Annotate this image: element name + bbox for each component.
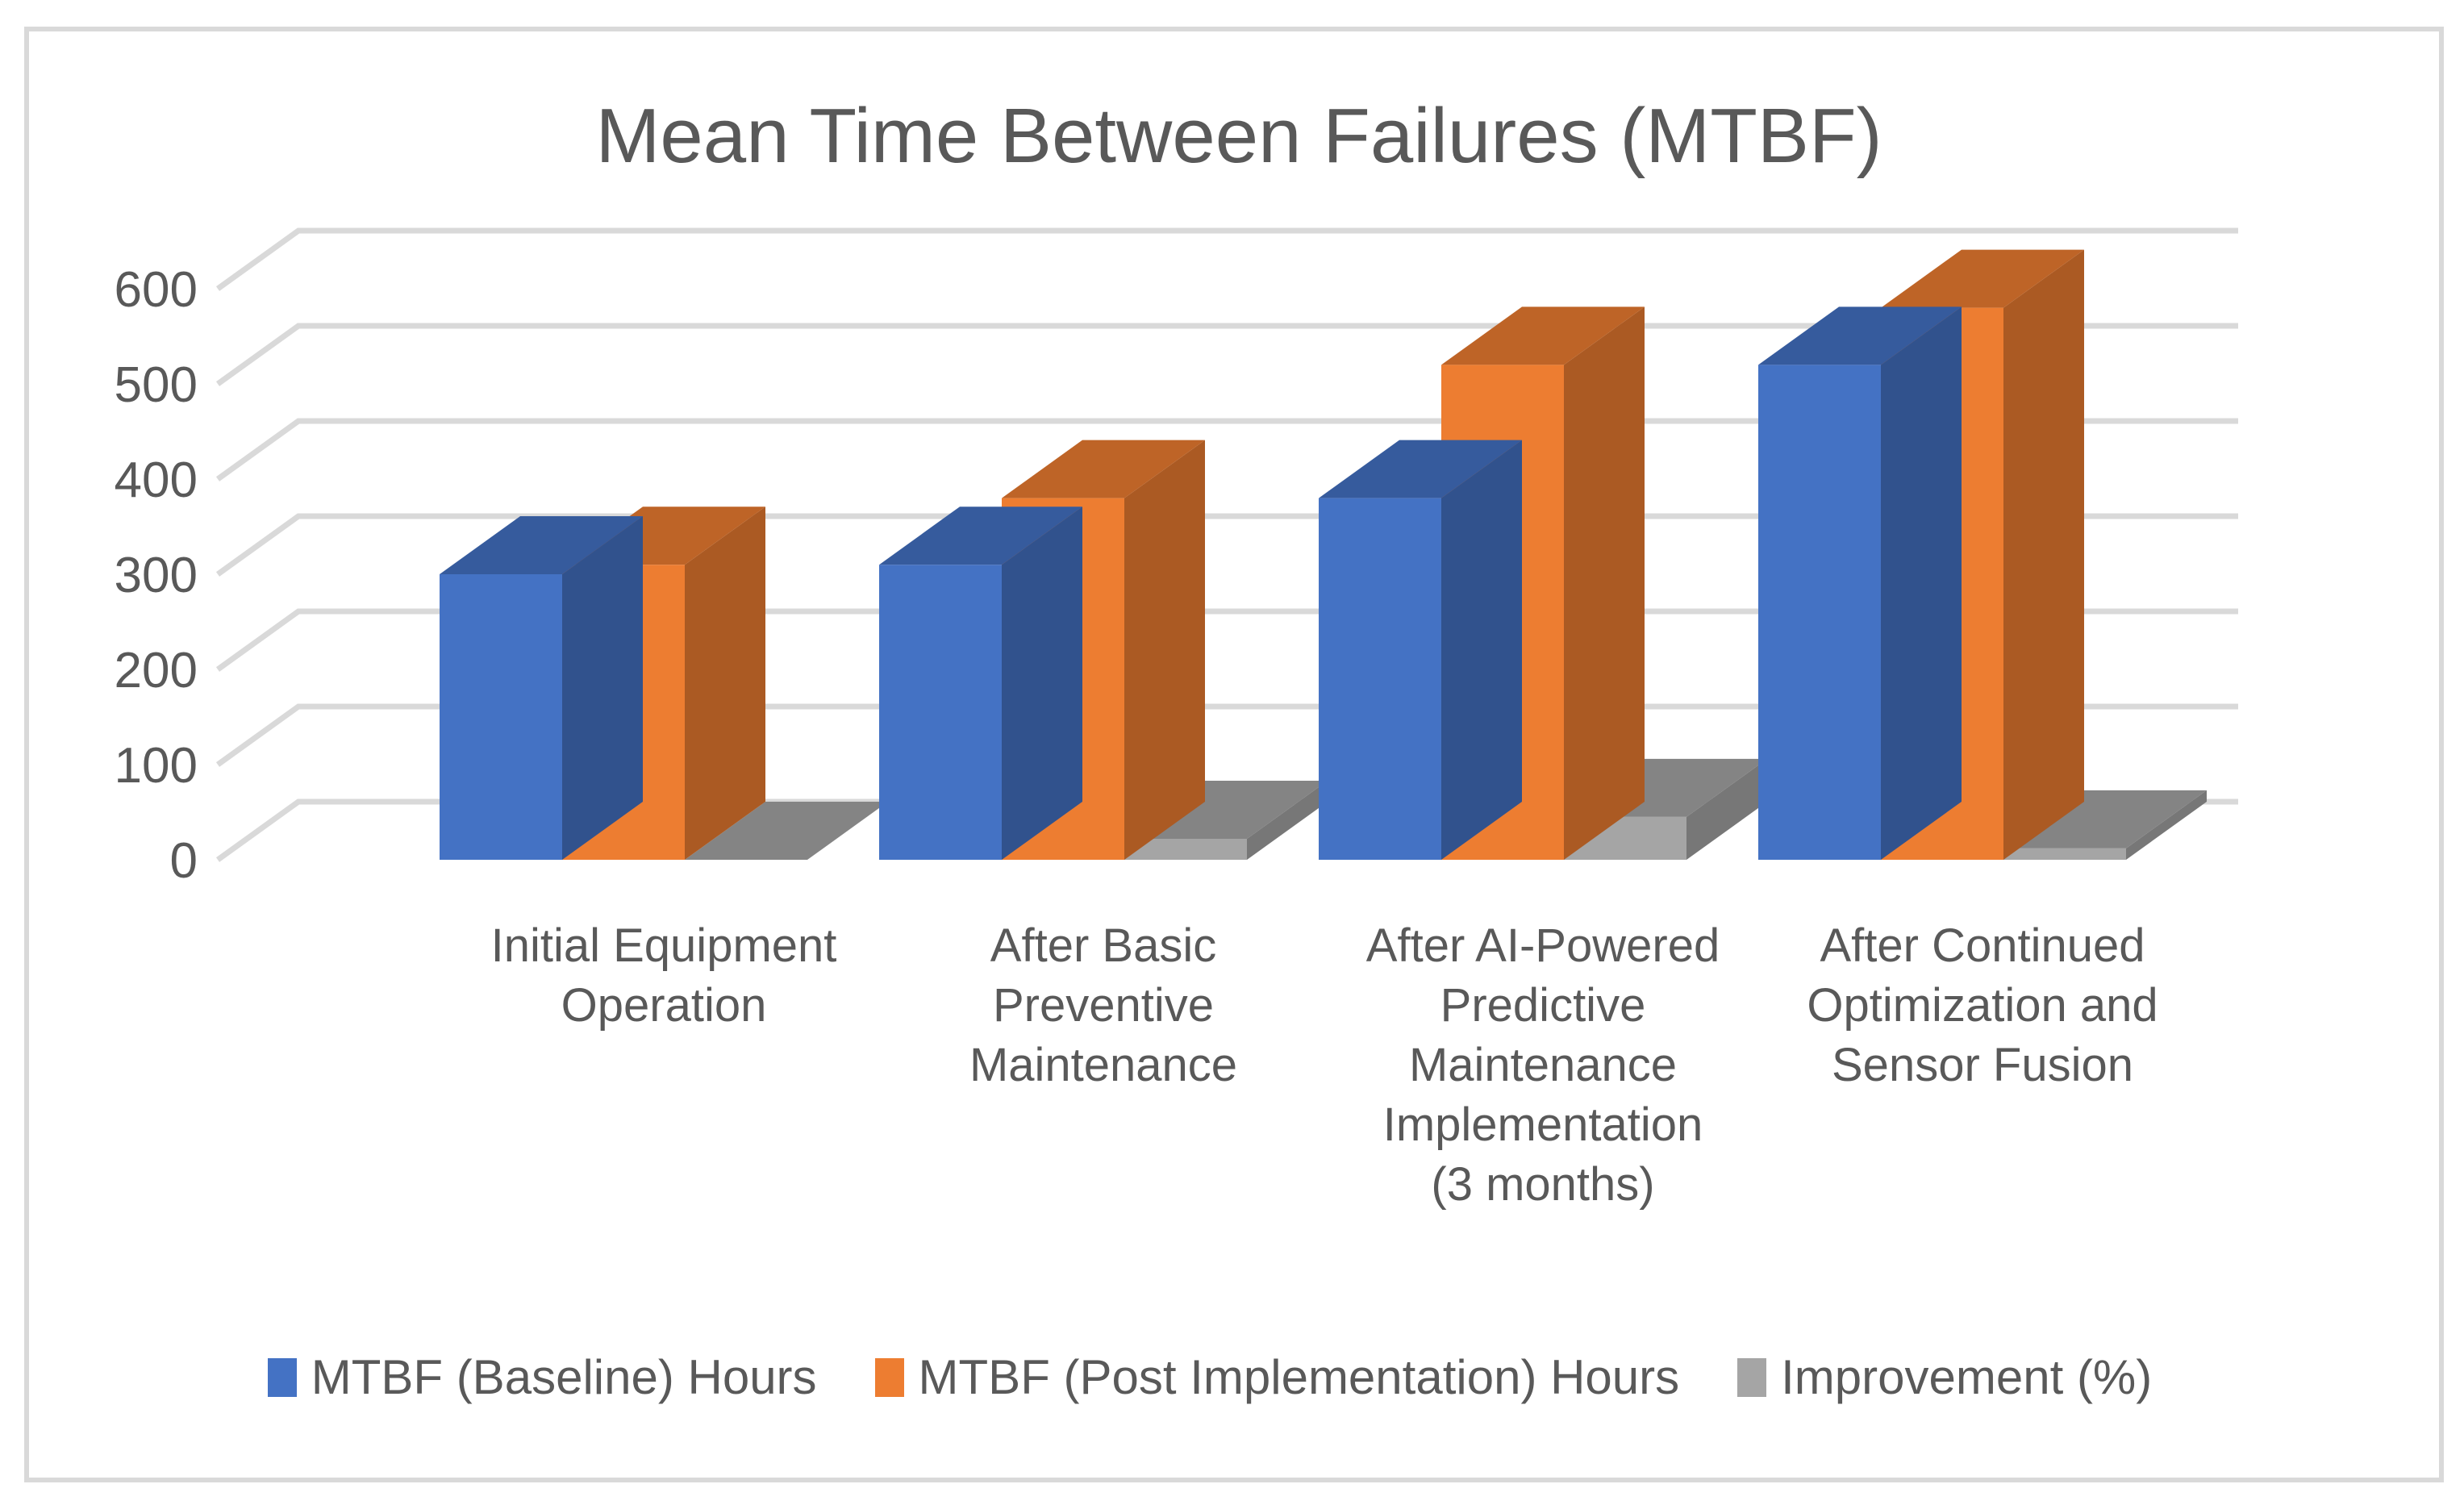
bar-side-face [1881, 306, 1962, 860]
bar-front-face [879, 565, 1002, 860]
bar-side-face [1564, 306, 1645, 860]
bar-front-face [1758, 365, 1881, 860]
x-category-label-line: Initial Equipment [491, 919, 837, 972]
x-category-label-line: Operation [561, 979, 767, 1032]
x-category-label-line: Sensor Fusion [1832, 1039, 2133, 1091]
y-tick-label: 0 [170, 833, 198, 889]
legend-item-3[interactable]: Improvement (%) [1737, 1353, 2152, 1402]
bar-front-face [440, 574, 562, 860]
bars-group [440, 250, 2207, 860]
x-category-label-line: Implementation [1383, 1099, 1703, 1151]
bar-2-series-1 [879, 507, 1082, 860]
legend-swatch-icon [875, 1358, 904, 1397]
bar-4-series-1 [1758, 306, 1962, 860]
legend-item-2[interactable]: MTBF (Post Implementation) Hours [875, 1353, 1680, 1402]
legend-swatch-icon [1737, 1358, 1766, 1397]
chart-plot-area: 0100200300400500600 Initial EquipmentOpe… [0, 0, 2464, 1505]
y-tick-label: 400 [115, 452, 198, 508]
x-category-label-line: After Continued [1820, 919, 2145, 972]
y-tick-label: 100 [115, 738, 198, 794]
x-category-label-line: After Basic [990, 919, 1216, 972]
y-tick-label: 200 [115, 643, 198, 698]
x-axis-category-labels: Initial EquipmentOperationAfter BasicPre… [491, 919, 2158, 1211]
legend-label: MTBF (Baseline) Hours [311, 1353, 817, 1402]
x-category-label-line: Preventive [993, 979, 1214, 1032]
y-tick-label: 500 [115, 357, 198, 413]
bar-side-face [685, 507, 765, 860]
x-category-label-line: Maintenance [969, 1039, 1237, 1091]
legend-swatch-icon [268, 1358, 297, 1397]
x-category-label-line: After AI-Powered [1366, 919, 1720, 972]
x-category-label-line: Predictive [1440, 979, 1646, 1032]
legend-item-1[interactable]: MTBF (Baseline) Hours [268, 1353, 817, 1402]
bar-side-face [1124, 440, 1205, 860]
y-axis-tick-labels: 0100200300400500600 [115, 262, 198, 889]
bar-3-series-1 [1319, 440, 1522, 860]
bar-1-series-1 [440, 516, 643, 860]
bar-side-face [1441, 440, 1522, 860]
bar-side-face [562, 516, 643, 860]
x-category-label-line: Maintenance [1409, 1039, 1677, 1091]
x-category-label-line: Optimization and [1807, 979, 2158, 1032]
x-category-label-line: (3 months) [1431, 1158, 1654, 1211]
legend-label: Improvement (%) [1781, 1353, 2152, 1402]
bar-side-face [1002, 507, 1082, 860]
bar-front-face [1319, 498, 1441, 860]
y-tick-label: 300 [115, 548, 198, 603]
bar-front-face [2003, 848, 2126, 860]
y-tick-label: 600 [115, 262, 198, 318]
chart-legend: MTBF (Baseline) HoursMTBF (Post Implemen… [0, 1353, 2420, 1402]
bar-side-face [2003, 250, 2084, 860]
legend-label: MTBF (Post Implementation) Hours [919, 1353, 1680, 1402]
